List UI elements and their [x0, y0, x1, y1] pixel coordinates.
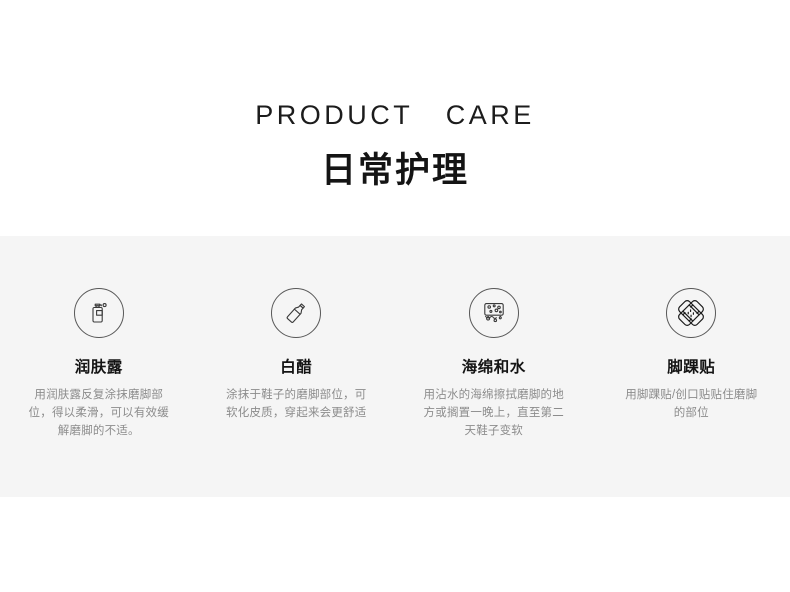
care-tip-description: 涂抹于鞋子的磨脚部位，可软化皮质，穿起来会更舒适: [221, 386, 371, 422]
bandage-cross-icon: [666, 288, 716, 338]
care-tip-item-sponge: 海绵和水 用沾水的海绵擦拭磨脚的地方或搁置一晚上，直至第二天鞋子变软: [395, 236, 593, 440]
page-title-chinese: 日常护理: [0, 148, 790, 194]
care-tip-item-vinegar: 白醋 涂抹于鞋子的磨脚部位，可软化皮质，穿起来会更舒适: [198, 236, 396, 422]
page-header: PRODUCT CARE 日常护理: [0, 0, 790, 236]
care-tip-description: 用沾水的海绵擦拭磨脚的地方或搁置一晚上，直至第二天鞋子变软: [419, 386, 569, 440]
care-tip-title: 润肤露: [75, 358, 123, 378]
care-tip-item-bandage: 脚踝贴 用脚踝贴/创口贴贴住磨脚的部位: [593, 236, 790, 422]
page-title-english: PRODUCT CARE: [0, 98, 790, 132]
care-tip-title: 脚踝贴: [667, 358, 715, 378]
sponge-water-icon: [469, 288, 519, 338]
care-tips-panel: 润肤露 用润肤露反复涂抹磨脚部位，得以柔滑，可以有效缓解磨脚的不适。 白醋 涂抹…: [0, 236, 790, 497]
care-tip-description: 用脚踝贴/创口贴贴住磨脚的部位: [621, 386, 761, 422]
footer-whitespace: [0, 497, 790, 592]
care-tip-description: 用润肤露反复涂抹磨脚部位，得以柔滑，可以有效缓解磨脚的不适。: [24, 386, 174, 440]
care-tip-item-lotion: 润肤露 用润肤露反复涂抹磨脚部位，得以柔滑，可以有效缓解磨脚的不适。: [0, 236, 198, 440]
pump-bottle-icon: [74, 288, 124, 338]
care-tip-title: 海绵和水: [462, 358, 526, 378]
vinegar-bottle-icon: [271, 288, 321, 338]
care-tips-columns: 润肤露 用润肤露反复涂抹磨脚部位，得以柔滑，可以有效缓解磨脚的不适。 白醋 涂抹…: [0, 236, 790, 497]
care-tip-title: 白醋: [280, 358, 312, 378]
